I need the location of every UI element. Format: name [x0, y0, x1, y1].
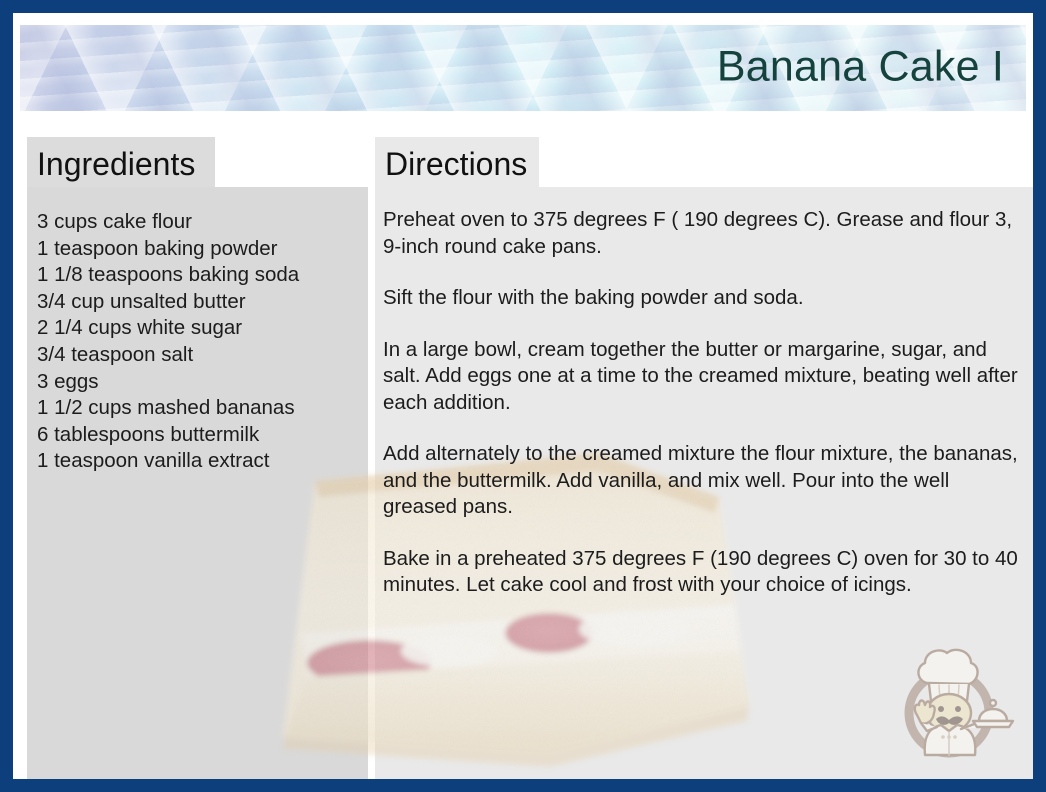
- list-item: 1 1/2 cups mashed bananas: [37, 395, 358, 422]
- list-item: 3 cups cake flour: [37, 209, 358, 236]
- direction-step: Sift the flour with the baking powder an…: [383, 285, 1021, 312]
- recipe-card: Banana Cake I Ingredients Directions 3 c…: [0, 0, 1046, 792]
- section-heading-directions: Directions: [375, 137, 539, 187]
- direction-step: In a large bowl, cream together the butt…: [383, 337, 1021, 417]
- title-banner: Banana Cake I: [20, 25, 1026, 111]
- list-item: 2 1/4 cups white sugar: [37, 315, 358, 342]
- list-item: 1 1/8 teaspoons baking soda: [37, 262, 358, 289]
- list-item: 3 eggs: [37, 369, 358, 396]
- list-item: 3/4 teaspoon salt: [37, 342, 358, 369]
- page-title: Banana Cake I: [717, 46, 1004, 89]
- ingredient-list: 3 cups cake flour 1 teaspoon baking powd…: [37, 209, 358, 475]
- list-item: 3/4 cup unsalted butter: [37, 289, 358, 316]
- list-item: 1 teaspoon baking powder: [37, 236, 358, 263]
- directions-panel: Preheat oven to 375 degrees F ( 190 degr…: [375, 187, 1039, 792]
- direction-step: Add alternately to the creamed mixture t…: [383, 441, 1021, 521]
- list-item: 6 tablespoons buttermilk: [37, 422, 358, 449]
- ingredients-panel: 3 cups cake flour 1 teaspoon baking powd…: [27, 187, 368, 792]
- direction-step: Bake in a preheated 375 degrees F (190 d…: [383, 546, 1021, 599]
- direction-step: Preheat oven to 375 degrees F ( 190 degr…: [383, 207, 1021, 260]
- list-item: 1 teaspoon vanilla extract: [37, 448, 358, 475]
- section-heading-ingredients: Ingredients: [27, 137, 215, 187]
